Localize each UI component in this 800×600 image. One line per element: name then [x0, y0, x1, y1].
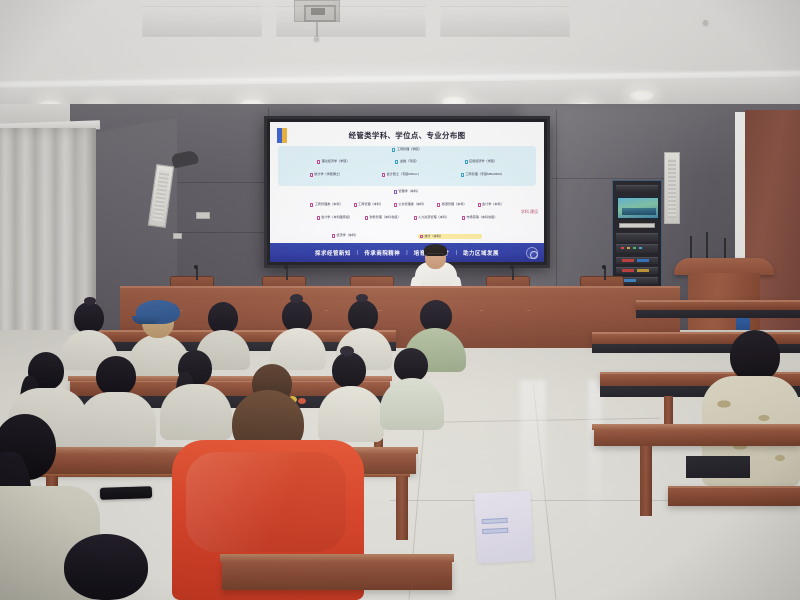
table-microphone: [512, 268, 514, 280]
slide-item: 会计学（本科国家级）: [317, 216, 352, 220]
person-head: [64, 534, 148, 600]
bullet-icon: [394, 190, 397, 194]
slide-row: 管理学（本科）: [270, 190, 544, 194]
cap-brim: [132, 316, 160, 324]
slide-item: 金融（专硕）: [395, 160, 418, 164]
podium-microphone: [706, 232, 708, 260]
bench-backrest: [686, 456, 750, 478]
person-head: [96, 356, 136, 396]
slide-footer-banner: 探求经管新知 | 传承商院精神 | 培育卓越人才 | 助力区域发展: [270, 243, 544, 262]
smartphone-on-desk[interactable]: [100, 486, 152, 500]
slide-item: 工商管理（学硕）: [392, 148, 421, 152]
rack-indicator-led: [633, 247, 636, 249]
bullet-icon: [478, 203, 481, 207]
bullet-icon: [462, 216, 465, 220]
slide-item: 工商管理（本科）: [354, 203, 383, 207]
slide-item: 工商管理（专硕MBA/MPA）: [461, 173, 504, 177]
hair-clip: [298, 398, 306, 404]
bullet-icon: [317, 160, 320, 164]
lecture-hall-photo: 经管类学科、学位点、专业分布图 工商管理（学硕） 理论经济学（学硕）: [0, 0, 800, 600]
bullet-icon: [465, 160, 468, 164]
bullet-icon: [461, 173, 464, 177]
slide-item: 工商管理类（本科）: [310, 203, 342, 207]
bench-top-edge: [592, 424, 800, 430]
bullet-icon: [420, 235, 423, 239]
banner-segment: 探求经管新知: [315, 249, 351, 257]
slide-item: 市场营销（本科省级）: [462, 216, 497, 220]
slide-item-label: 会计硕士（专硕MPAcc）: [387, 173, 421, 176]
dropped-paper[interactable]: [474, 491, 534, 564]
slide-row: 会计学（本科国家级） 财务管理（本科省级） 人力资源管理（本科） 市场营销（本科…: [270, 216, 544, 220]
rack-indicator-led: [627, 247, 630, 249]
bullet-icon: [392, 148, 395, 152]
bench-backrest: [636, 310, 800, 318]
slide-row: 工商管理类（本科） 工商管理（本科） 公共管理类（本科） 旅游管理（本科）: [270, 203, 544, 207]
slide-item-label: 金融（专硕）: [400, 160, 419, 163]
person-torso: [318, 386, 384, 442]
bench-leg: [396, 476, 408, 540]
slide-item-label: 统计学（学硕博士）: [314, 173, 342, 176]
slide-row: 理论经济学（学硕） 金融（专硕） 应用经济学（学硕）: [270, 160, 544, 164]
slide-item: 统计（本科）: [418, 234, 482, 239]
speaker-grille: [153, 171, 170, 222]
person-head: [394, 348, 428, 382]
slide-item-label: 财务管理（本科省级）: [370, 216, 401, 219]
slide-item: 经济学（本科）: [332, 234, 377, 238]
hair-bun: [84, 297, 96, 305]
wall-speaker-right-icon: [664, 152, 680, 224]
slide-item-label: 工商管理（本科）: [358, 203, 383, 206]
slide-item-label: 应用经济学（学硕）: [469, 160, 497, 163]
wall-control-plate[interactable]: [196, 212, 210, 219]
slide-body: 工商管理（学硕） 理论经济学（学硕） 金融（专硕） 应用经济学（学硕）: [270, 146, 544, 240]
banner-separator: |: [456, 250, 457, 256]
table-microphone-head: [194, 265, 198, 269]
slide-corner-mark: 学科 建设: [521, 210, 538, 214]
banner-segment: 助力区域发展: [463, 249, 499, 257]
bullet-icon: [317, 216, 320, 220]
slide-item: 统计学（学硕博士）: [310, 173, 342, 177]
banner-separator: |: [357, 250, 358, 256]
speaker-grille: [668, 158, 676, 218]
audience-bench-row1-right[interactable]: [594, 428, 800, 446]
slide-item-label: 管理学（本科）: [398, 190, 420, 193]
rack-unit: [616, 185, 658, 192]
slide-row: 工商管理（学硕）: [270, 148, 544, 152]
slide-item-label: 工商管理（学硕）: [397, 148, 422, 151]
slide-item-label: 会计学（本科）: [482, 203, 504, 206]
person-torso: [78, 392, 156, 450]
slide-item: 旅游管理（本科）: [437, 203, 466, 207]
presenter-glasses-icon: [427, 253, 444, 257]
rack-indicator-led: [621, 247, 624, 249]
hair-bun: [290, 294, 303, 303]
rack-indicator-led: [637, 259, 649, 262]
bullet-icon: [310, 203, 313, 207]
person-head: [730, 330, 780, 382]
slide-item-label: 工商管理（专硕MBA/MPA）: [465, 173, 504, 176]
paper-field: [482, 528, 508, 534]
table-microphone-head: [510, 265, 514, 269]
slide-item: 会计硕士（专硕MPAcc）: [382, 173, 421, 177]
bench-leg: [640, 446, 652, 516]
slide-item-label: 人力资源管理（本科）: [418, 216, 449, 219]
bullet-icon: [365, 216, 368, 220]
bullet-icon: [354, 203, 357, 207]
head-table-panel: [276, 6, 426, 38]
slide-item-label: 市场营销（本科省级）: [466, 216, 497, 219]
head-table-panel: [142, 6, 262, 38]
audience-bench-nearest-right[interactable]: [668, 486, 800, 506]
slide-item: 人力资源管理（本科）: [414, 216, 449, 220]
university-seal-logo-icon: [526, 247, 538, 259]
projection-screen-bezel: 经管类学科、学位点、专业分布图 工商管理（学硕） 理论经济学（学硕）: [264, 116, 550, 268]
banner-segment: 传承商院精神: [364, 249, 400, 257]
audience-bench-nearest[interactable]: [222, 560, 452, 590]
bullet-icon: [395, 160, 398, 164]
person-torso: [160, 384, 232, 440]
slide-item: 管理学（本科）: [394, 190, 420, 194]
slide-item: 公共管理类（本科）: [394, 203, 426, 207]
wall-panel-seam: [178, 232, 268, 233]
hair-bun: [356, 294, 368, 302]
table-microphone-head: [602, 265, 606, 269]
bullet-icon: [437, 203, 440, 207]
shirt-highlight: [186, 452, 346, 552]
rack-indicator-led: [622, 259, 634, 262]
wall-socket-plate[interactable]: [173, 233, 182, 239]
slide-item: 会计学（本科）: [478, 203, 504, 207]
slide-item-label: 理论经济学（学硕）: [322, 160, 350, 163]
downlight: [630, 90, 654, 101]
bullet-icon: [394, 203, 397, 207]
slide-item: 理论经济学（学硕）: [317, 160, 349, 164]
slide-item-label: 会计学（本科国家级）: [321, 216, 352, 219]
audience-bench-far-right[interactable]: [636, 300, 800, 310]
podium-microphone: [690, 236, 692, 260]
slide-item: 财务管理（本科省级）: [365, 216, 400, 220]
bullet-icon: [332, 234, 335, 238]
hair-bun: [340, 346, 354, 356]
table-microphone: [286, 268, 288, 280]
rack-monitor-screen[interactable]: [617, 197, 659, 219]
slide-item-label: 工商管理类（本科）: [315, 203, 343, 206]
slide-item-label: 公共管理类（本科）: [398, 203, 426, 206]
slide-item: 应用经济学（学硕）: [465, 160, 497, 164]
smoke-detector-icon: [703, 20, 708, 25]
bench-top-edge: [220, 554, 454, 562]
bullet-icon: [414, 216, 417, 220]
wall-panel-seam: [552, 178, 672, 179]
slide-item-label: 旅游管理（本科）: [442, 203, 467, 206]
table-microphone: [196, 268, 198, 280]
slide-section-top-cyan: [278, 146, 536, 186]
head-table-panel: [440, 6, 570, 38]
table-microphone: [604, 268, 606, 280]
podium-microphone: [724, 238, 726, 260]
bullet-icon: [310, 173, 313, 177]
wall-panel-seam: [178, 182, 268, 183]
slide-item-label: 经济学（本科）: [337, 234, 359, 237]
person-head: [332, 352, 366, 388]
slide-title: 经管类学科、学位点、专业分布图: [270, 130, 544, 141]
rack-indicator-led: [622, 279, 636, 282]
rack-label: [619, 223, 655, 228]
table-microphone-head: [284, 265, 288, 269]
slide-row: 统计学（学硕博士） 会计硕士（专硕MPAcc） 工商管理（专硕MBA/MPA）: [270, 173, 544, 177]
rack-indicator-led: [637, 269, 649, 272]
rack-indicator-led: [622, 269, 634, 272]
banner-separator: |: [406, 250, 407, 256]
floor-reflection: [588, 380, 602, 550]
rack-indicator-led: [639, 247, 642, 249]
slide-item-label: 统计（本科）: [425, 235, 444, 238]
bullet-icon: [382, 173, 385, 177]
paper-field: [482, 518, 508, 524]
presentation-slide[interactable]: 经管类学科、学位点、专业分布图 工商管理（学硕） 理论经济学（学硕）: [270, 122, 544, 262]
rack-unit: [616, 233, 658, 242]
